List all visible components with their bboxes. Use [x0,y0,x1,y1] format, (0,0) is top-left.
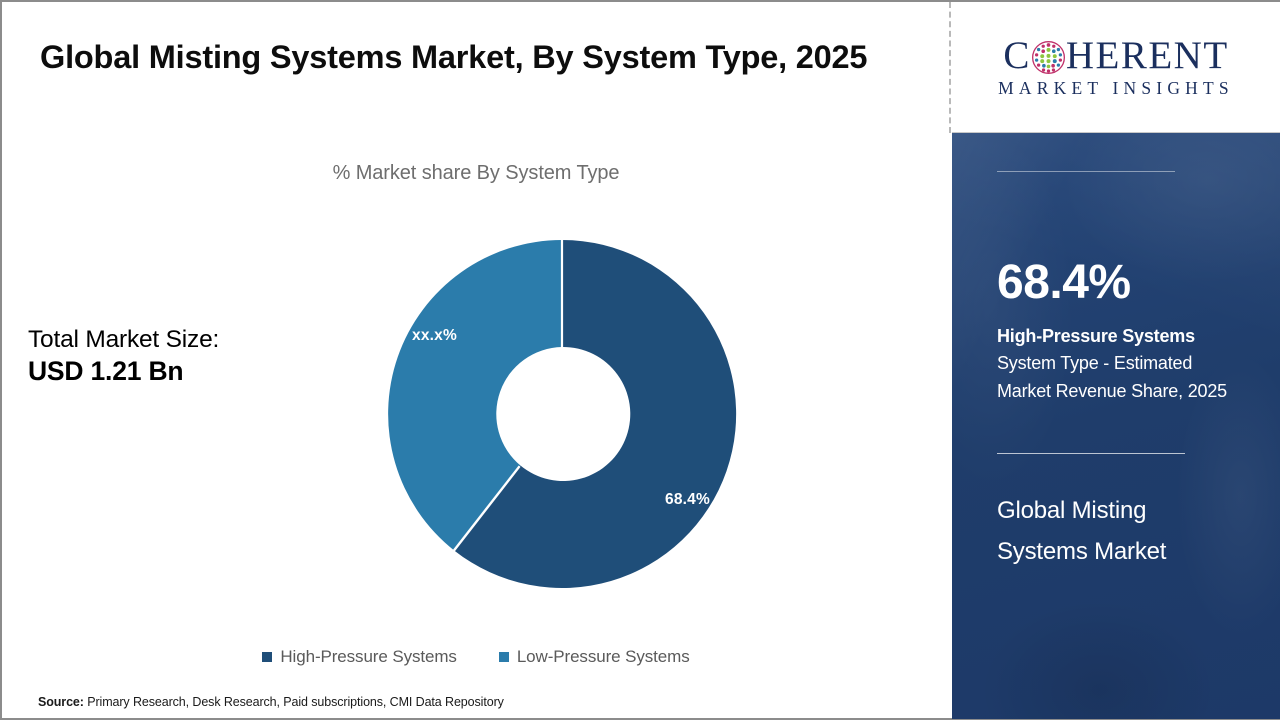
source-note: Source: Primary Research, Desk Research,… [38,695,504,709]
total-market-size-value: USD 1.21 Bn [28,355,219,389]
source-note-text: Primary Research, Desk Research, Paid su… [84,695,504,709]
highlight-panel: 68.4% High-Pressure Systems System Type … [952,133,1280,719]
stat-name: High-Pressure Systems [997,325,1195,348]
panel-market-name: Global Misting Systems Market [997,490,1237,573]
page-title: Global Misting Systems Market, By System… [40,32,910,83]
logo-wordmark-rest: HERENT [1066,36,1229,75]
panel-top-hairline [997,171,1175,172]
donut-label-high-pressure-systems: 68.4% [665,491,710,509]
vertical-dashed-divider [949,2,951,133]
legend-label: Low-Pressure Systems [517,647,690,667]
logo-wordmark: C [1003,36,1228,75]
legend-label: High-Pressure Systems [280,647,456,667]
donut-chart [378,230,746,598]
logo-tagline: MARKET INSIGHTS [998,80,1234,98]
brand-logo: C [952,2,1280,133]
chart-legend: High-Pressure Systems Low-Pressure Syste… [2,647,950,667]
stat-description: System Type - Estimated Market Revenue S… [997,350,1247,406]
legend-swatch-icon [262,652,272,662]
legend-swatch-icon [499,652,509,662]
stat-value: 68.4% [997,259,1131,307]
chart-pane: Global Misting Systems Market, By System… [2,2,950,718]
total-market-size: Total Market Size: USD 1.21 Bn [28,324,219,389]
total-market-size-label: Total Market Size: [28,324,219,355]
legend-item-high-pressure-systems[interactable]: High-Pressure Systems [262,647,456,667]
logo-wordmark-first-letter: C [1003,36,1031,75]
slide-canvas: Global Misting Systems Market, By System… [0,0,1280,720]
globe-dots-icon [1032,41,1065,74]
source-note-prefix: Source: [38,695,84,709]
panel-divider-rule [997,453,1185,454]
donut-label-low-pressure-systems: xx.x% [412,327,457,345]
panel-background-texture [952,133,1280,719]
donut-chart-svg [378,230,746,598]
chart-subtitle: % Market share By System Type [2,162,950,185]
legend-item-low-pressure-systems[interactable]: Low-Pressure Systems [499,647,690,667]
